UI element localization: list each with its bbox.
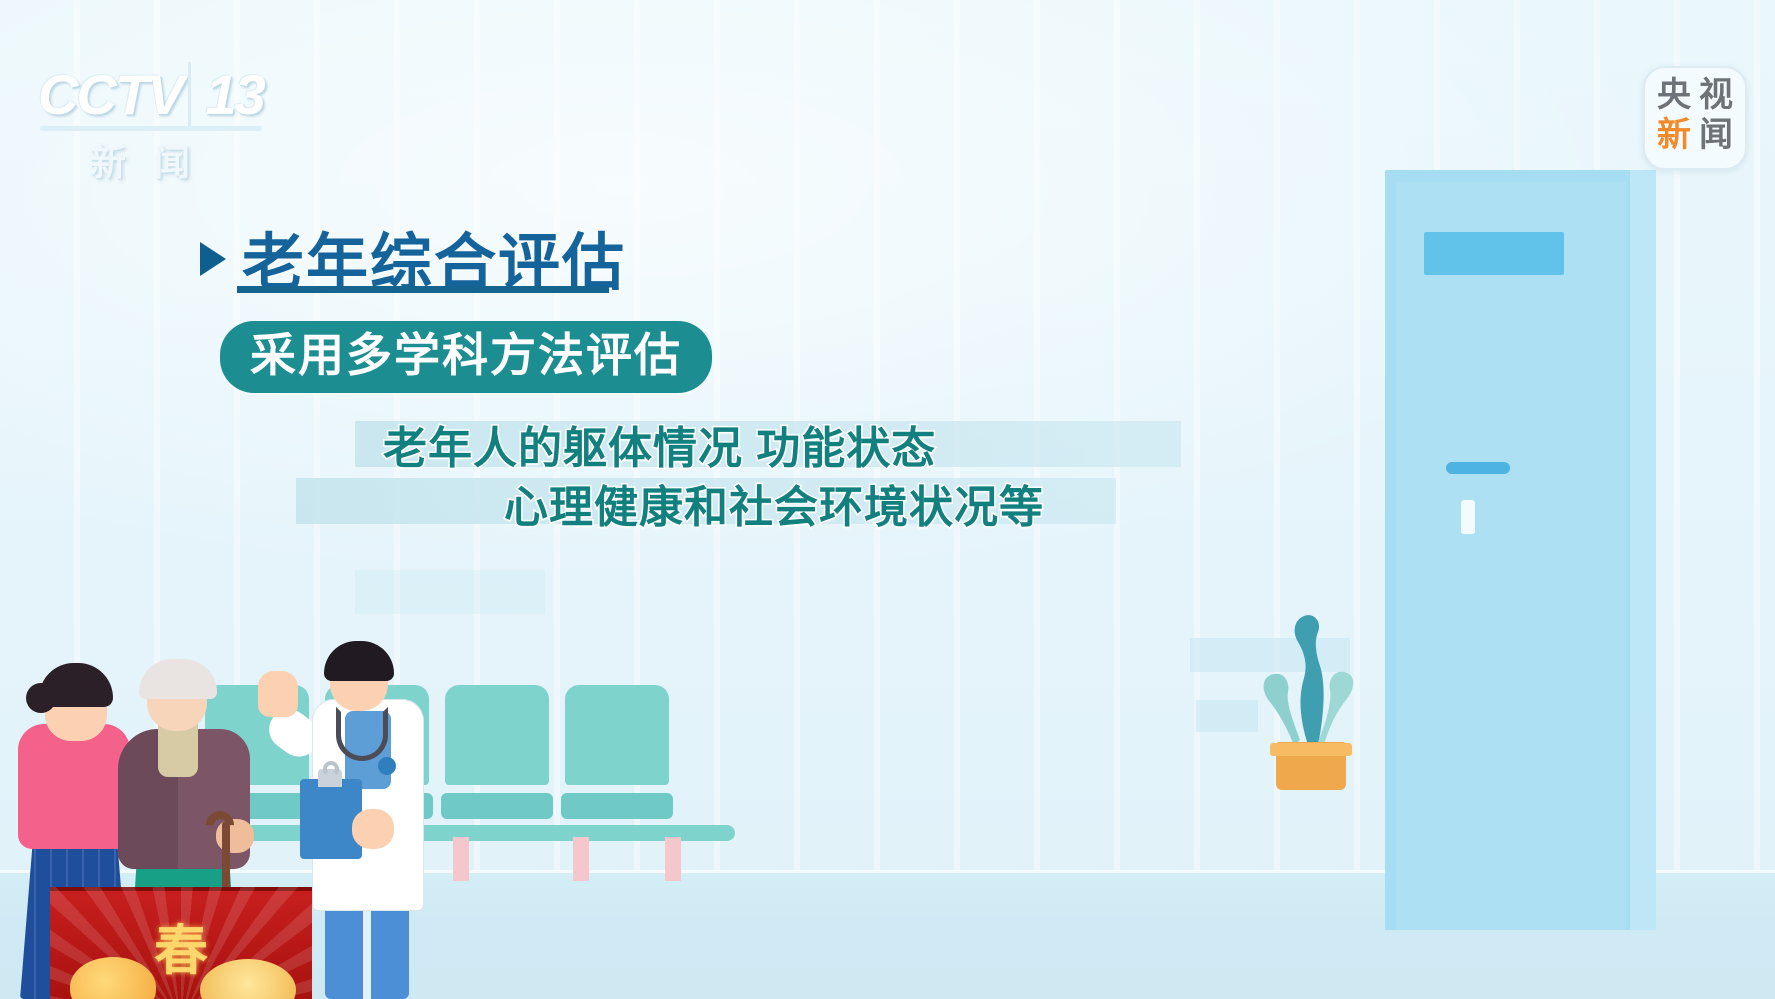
cctv-logo-chinese: 新闻 <box>90 134 218 186</box>
cctv-news-badge: 央 视 新 闻 <box>1643 66 1747 170</box>
door-handle-icon <box>1446 462 1510 474</box>
doctor-hand <box>352 809 394 849</box>
clipboard-ring <box>323 761 339 777</box>
cctv-logo-latin-row: CCTV 13 <box>38 62 278 127</box>
triangle-right-icon <box>200 242 226 276</box>
chair-seat <box>561 793 673 819</box>
chair-leg <box>573 837 589 881</box>
broadcast-frame: 春 CCTV 13 新闻 央 视 新 闻 老年综合评估 采用多学科方法评估 老年… <box>0 0 1775 999</box>
stethoscope-icon <box>336 707 388 761</box>
potted-plant <box>1246 590 1376 790</box>
door-window <box>1424 232 1564 275</box>
headline-underline <box>237 286 609 293</box>
doctor-hair <box>324 641 394 681</box>
stethoscope-bell-icon <box>378 757 396 775</box>
detail-line-2: 心理健康和社会环境状况等 <box>504 471 1044 535</box>
door-leaf <box>1396 182 1626 930</box>
spring-festival-banner: 春 <box>50 887 312 999</box>
chair-leg <box>665 837 681 881</box>
doctor-waving-hand <box>258 671 298 717</box>
door-lock-icon <box>1461 500 1475 534</box>
door-edge <box>1630 170 1656 930</box>
plant-leaves-icon <box>1246 590 1376 750</box>
chair-back <box>565 685 669 785</box>
banner-character: 春 <box>154 906 208 985</box>
news-badge-char-xin: 新 <box>1653 118 1695 158</box>
status-badge: 采用多学科方法评估 <box>220 321 712 393</box>
news-badge-char-yang: 央 <box>1653 78 1695 118</box>
news-badge-char-shi: 视 <box>1695 78 1737 118</box>
cctv-logo-latin: CCTV <box>38 62 182 127</box>
cctv13-logo: CCTV 13 新闻 <box>38 62 278 182</box>
pill-label: 采用多学科方法评估 <box>250 331 682 379</box>
elder-hair <box>139 659 217 699</box>
cctv-logo-number: 13 <box>188 62 273 127</box>
detail-line-1: 老年人的躯体情况 功能状态 <box>383 412 936 476</box>
news-badge-char-wen: 闻 <box>1695 118 1737 158</box>
plant-pot-rim <box>1270 743 1352 756</box>
woman-hair-bun <box>26 683 56 713</box>
cctv-logo-underbar <box>40 126 262 131</box>
